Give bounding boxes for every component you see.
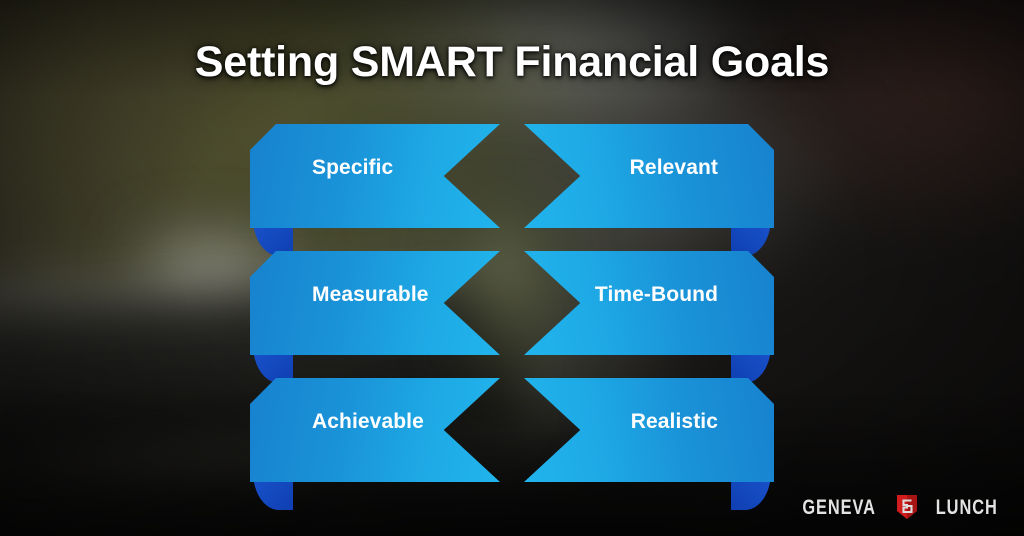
infographic-canvas: Setting SMART Financial Goals Specific R… [0,0,1024,536]
ribbon-realistic[interactable]: Realistic [524,378,774,482]
logo-word-right: LUNCH [935,497,997,518]
ribbon-label: Achievable [312,410,424,434]
smart-goals-diagram: Specific Relevant Measurable Time-Bo [0,0,1024,536]
ribbon-label: Relevant [630,156,718,180]
diagram-row: Measurable Time-Bound [250,251,774,355]
diagram-row: Specific Relevant [250,124,774,228]
ribbon-label: Specific [312,156,393,180]
brand-logo[interactable]: GENEVA LUNCH [792,492,1006,522]
ribbon-body: Specific [250,124,500,228]
logo-word-left: GENEVA [803,497,877,518]
ribbon-achievable[interactable]: Achievable [250,378,500,482]
ribbon-relevant[interactable]: Relevant [524,124,774,228]
diagram-row: Achievable Realistic [250,378,774,482]
ribbon-label: Measurable [312,283,429,307]
ribbon-body: Realistic [524,378,774,482]
ribbon-label: Time-Bound [595,283,718,307]
ribbon-body: Measurable [250,251,500,355]
ribbon-measurable[interactable]: Measurable [250,251,500,355]
ribbon-body: Time-Bound [524,251,774,355]
ribbon-label: Realistic [631,410,718,434]
ribbon-body: Relevant [524,124,774,228]
ribbon-time-bound[interactable]: Time-Bound [524,251,774,355]
logo-g-mark-icon [894,493,920,521]
ribbon-specific[interactable]: Specific [250,124,500,228]
ribbon-body: Achievable [250,378,500,482]
